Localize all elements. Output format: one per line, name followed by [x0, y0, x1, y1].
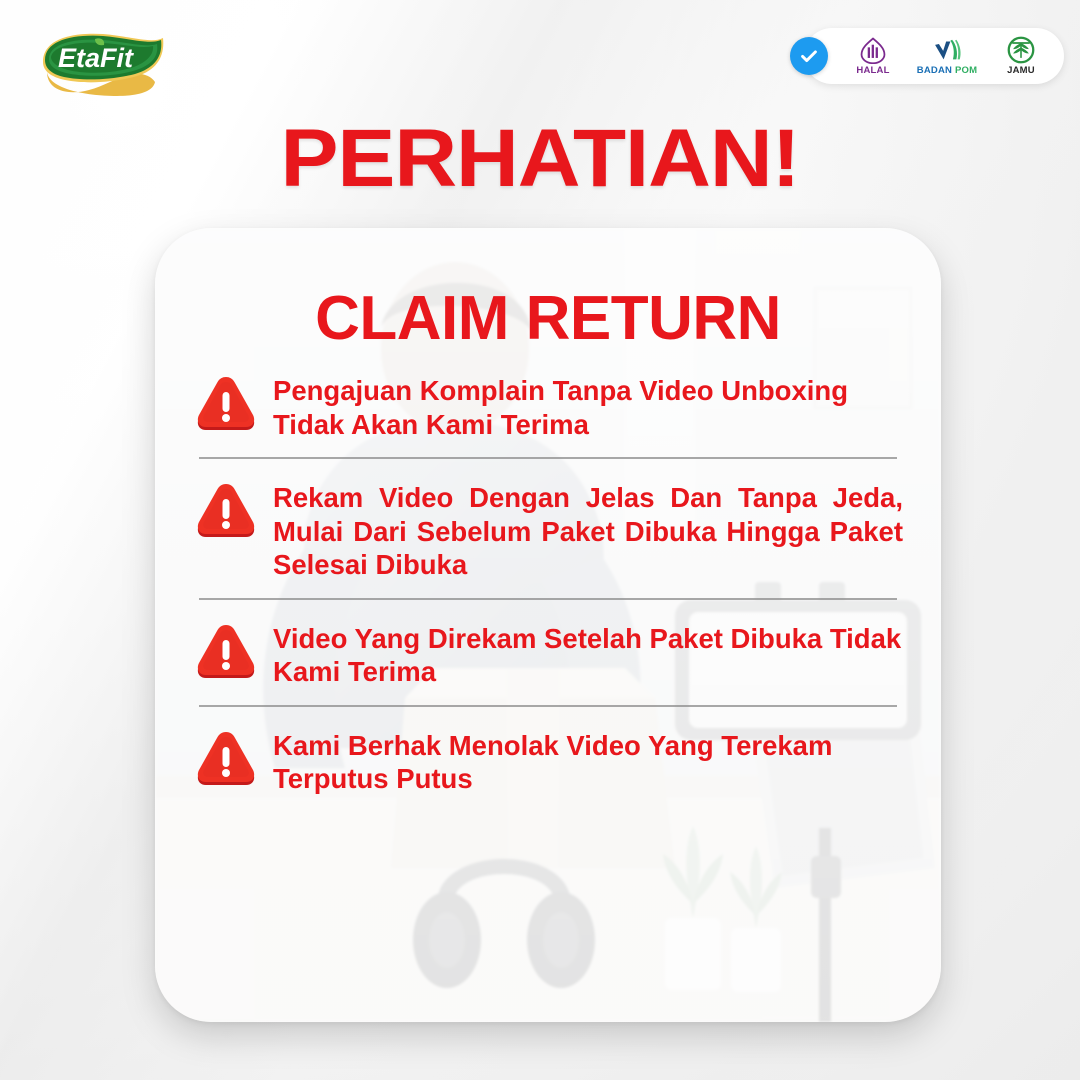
card-title: CLAIM RETURN: [155, 288, 941, 350]
list-divider: [199, 457, 897, 459]
halal-mark-icon: [858, 36, 888, 64]
svg-text:EtaFit: EtaFit: [58, 43, 134, 73]
list-item: Rekam Video Dengan Jelas Dan Tanpa Jeda,…: [193, 475, 903, 582]
etafit-logo: EtaFit: [33, 26, 173, 98]
jamu-tree-icon: [1007, 36, 1035, 64]
list-item: Kami Berhak Menolak Video Yang Terekam T…: [193, 723, 903, 796]
verified-check-icon: [790, 37, 828, 75]
cert-label-badan-pom: BADAN POM: [917, 66, 977, 76]
list-item-text: Kami Berhak Menolak Video Yang Terekam T…: [273, 723, 903, 796]
list-divider: [199, 705, 897, 707]
badan-pom-swoosh-icon: [930, 36, 964, 64]
claim-rules-list: Pengajuan Komplain Tanpa Video Unboxing …: [193, 368, 903, 796]
warning-triangle-icon: [193, 622, 259, 682]
list-item: Pengajuan Komplain Tanpa Video Unboxing …: [193, 368, 903, 441]
warning-triangle-icon: [193, 374, 259, 434]
list-item-text: Rekam Video Dengan Jelas Dan Tanpa Jeda,…: [273, 475, 903, 582]
cert-badge-jamu: JAMU: [992, 36, 1050, 76]
cert-label-jamu: JAMU: [1007, 66, 1035, 76]
warning-triangle-icon: [193, 729, 259, 789]
cert-badge-badan-pom: BADAN POM: [918, 36, 976, 76]
page-headline: PERHATIAN!: [0, 118, 1080, 200]
list-item-text: Pengajuan Komplain Tanpa Video Unboxing …: [273, 368, 903, 441]
cert-badge-halal: HALAL: [844, 36, 902, 76]
list-item-text: Video Yang Direkam Setelah Paket Dibuka …: [273, 616, 903, 689]
list-item: Video Yang Direkam Setelah Paket Dibuka …: [193, 616, 903, 689]
warning-triangle-icon: [193, 481, 259, 541]
list-divider: [199, 598, 897, 600]
claim-return-card: CLAIM RETURN Pengajuan Komplain Tanpa Vi…: [155, 228, 941, 1022]
cert-label-halal: HALAL: [856, 66, 889, 76]
certification-badge-strip: HALAL BADAN POM JAMU: [804, 28, 1064, 84]
